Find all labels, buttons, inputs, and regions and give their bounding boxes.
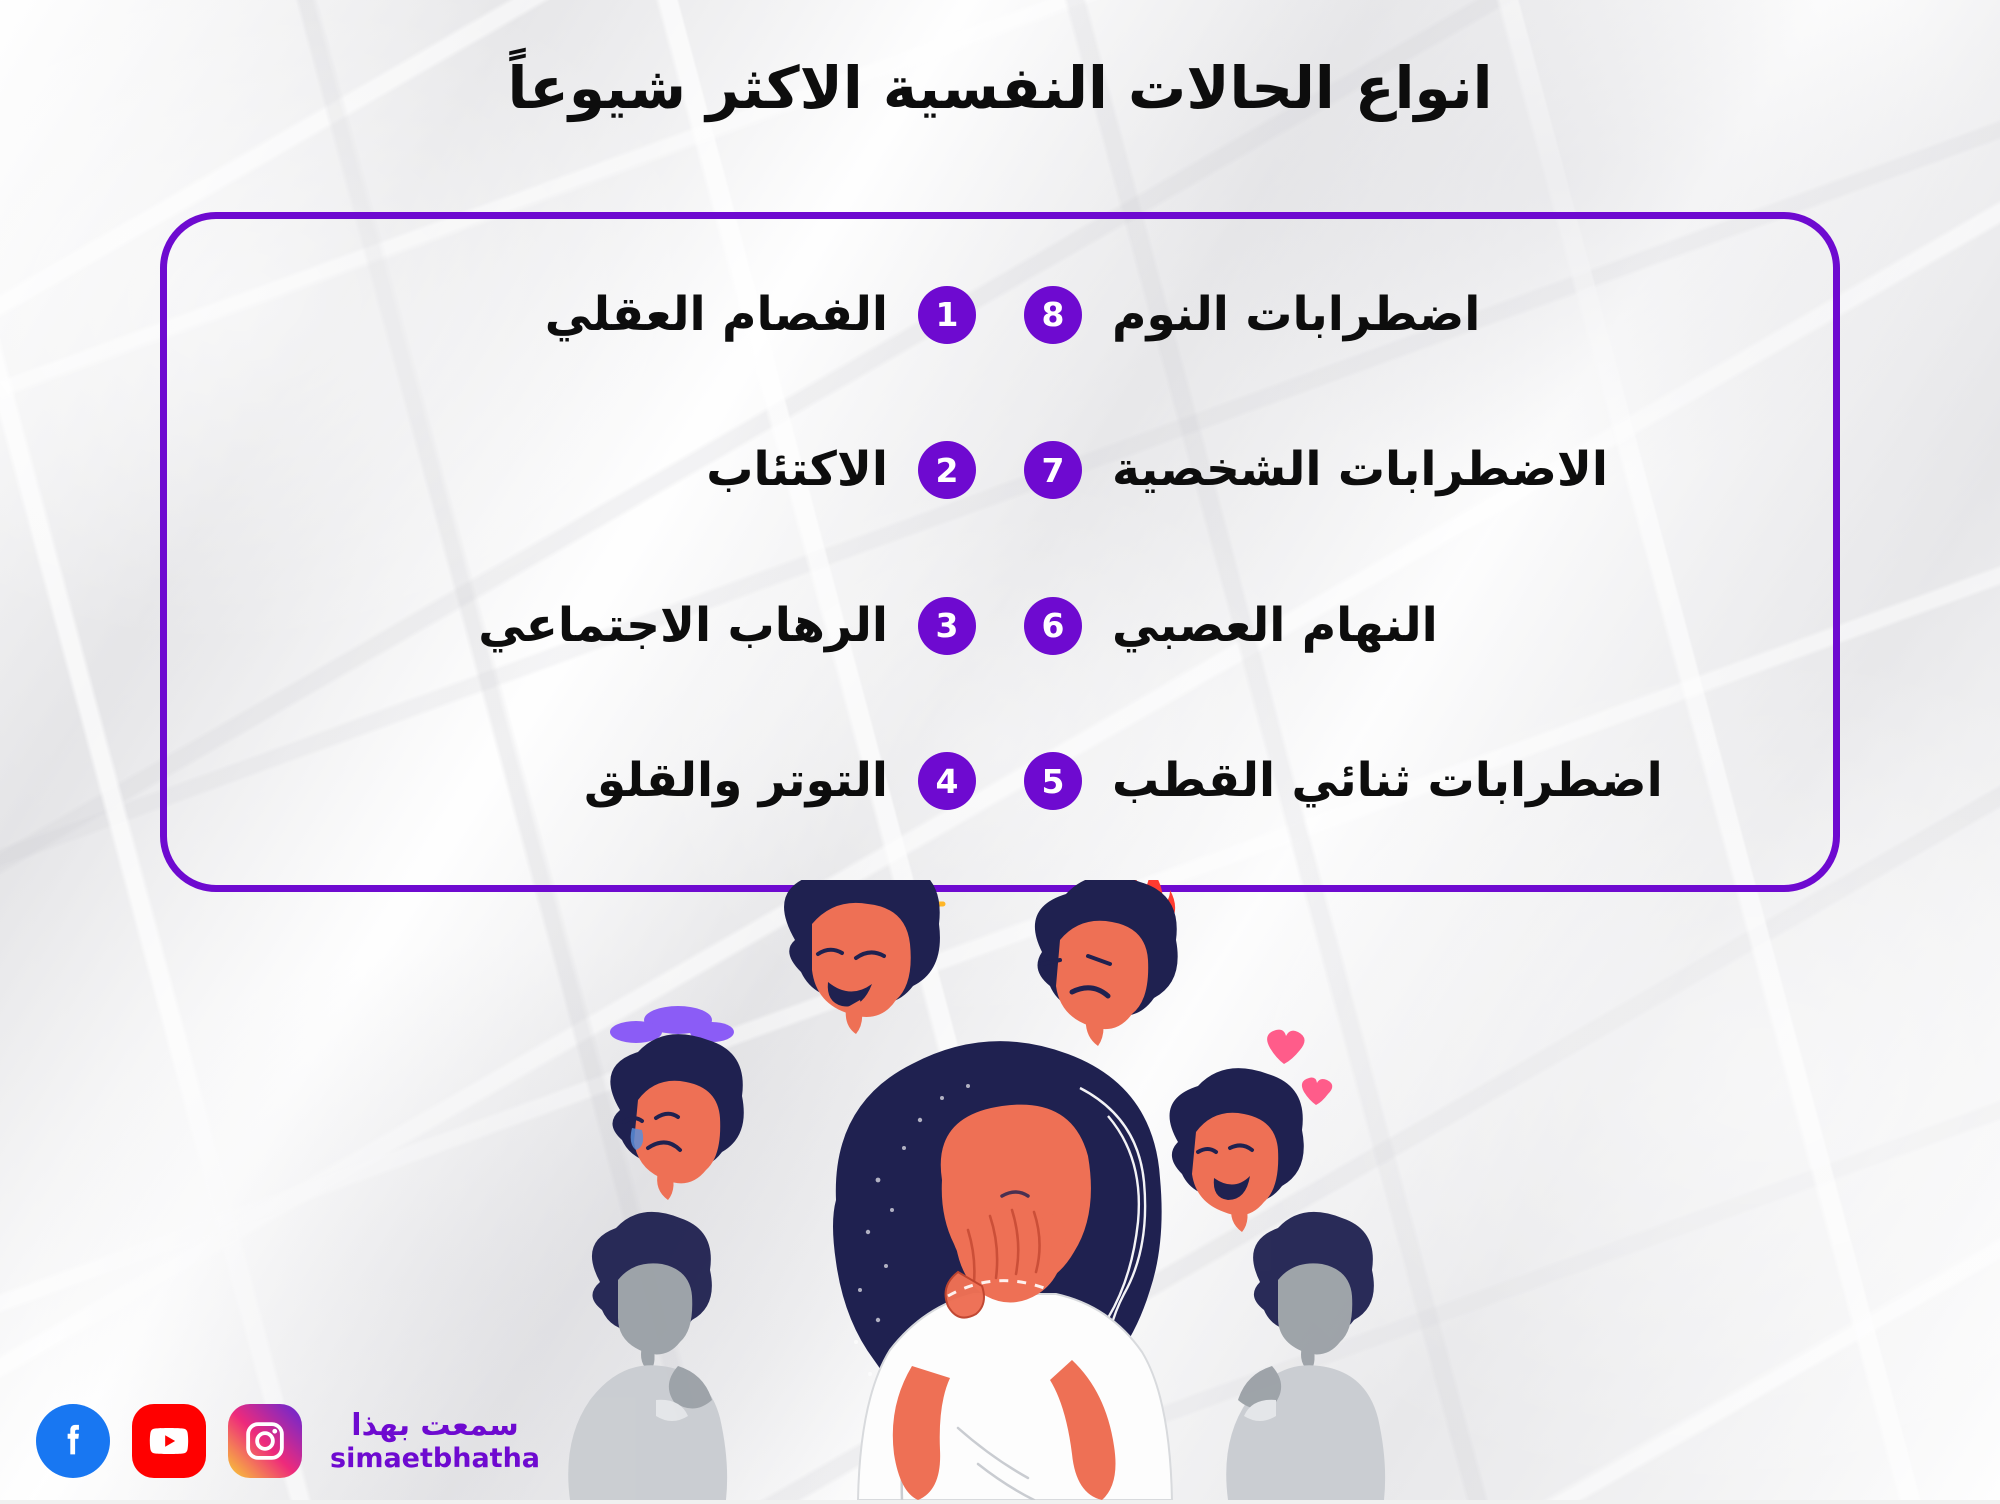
- emotion-head-angry: [1035, 880, 1178, 1046]
- illustration-woman-covering-face: [560, 880, 1460, 1500]
- list-item[interactable]: 1 الفصام العقلي: [201, 286, 1000, 344]
- page-title: انواع الحالات النفسية الاكثر شيوعاً: [0, 52, 2000, 125]
- list-item-label: الاكتئاب: [706, 442, 888, 498]
- list-item[interactable]: 4 التوتر والقلق: [201, 752, 1000, 810]
- list-item[interactable]: الاضطرابات الشخصية 7: [1000, 441, 1799, 499]
- main-figure-woman: [833, 1041, 1172, 1500]
- background-person-right: [1226, 1212, 1385, 1500]
- emotion-head-crying: [610, 1006, 744, 1200]
- footer-branding: سمعت بهذا simaetbhatha: [36, 1404, 540, 1478]
- brand-handle: simaetbhatha: [330, 1444, 540, 1474]
- list-item-number-badge: 4: [918, 752, 976, 810]
- list-item-label: اضطرابات ثنائي القطب: [1112, 753, 1663, 809]
- list-item-number-badge: 2: [918, 441, 976, 499]
- list-item[interactable]: اضطرابات ثنائي القطب 5: [1000, 752, 1799, 810]
- conditions-list-card: اضطرابات النوم 8 1 الفصام العقلي الاضطرا…: [160, 212, 1840, 892]
- youtube-icon[interactable]: [132, 1404, 206, 1478]
- list-item-label: اضطرابات النوم: [1112, 287, 1480, 343]
- list-item-label: النهام العصبي: [1112, 598, 1438, 654]
- list-item-number-badge: 6: [1024, 597, 1082, 655]
- list-item[interactable]: اضطرابات النوم 8: [1000, 286, 1799, 344]
- conditions-grid: اضطرابات النوم 8 1 الفصام العقلي الاضطرا…: [167, 219, 1833, 885]
- instagram-icon[interactable]: [228, 1404, 302, 1478]
- list-item-number-badge: 5: [1024, 752, 1082, 810]
- list-item-number-badge: 8: [1024, 286, 1082, 344]
- list-item-label: الرهاب الاجتماعي: [478, 598, 888, 654]
- list-item-label: الاضطرابات الشخصية: [1112, 442, 1608, 498]
- list-item[interactable]: 2 الاكتئاب: [201, 441, 1000, 499]
- emotion-head-loving: [1170, 1030, 1333, 1232]
- list-item[interactable]: النهام العصبي 6: [1000, 597, 1799, 655]
- emotion-head-laughing: [784, 880, 943, 1034]
- list-item-number-badge: 1: [918, 286, 976, 344]
- list-item[interactable]: 3 الرهاب الاجتماعي: [201, 597, 1000, 655]
- facebook-icon[interactable]: [36, 1404, 110, 1478]
- list-item-label: الفصام العقلي: [545, 287, 888, 343]
- brand-text-block: سمعت بهذا simaetbhatha: [330, 1409, 540, 1474]
- list-item-label: التوتر والقلق: [584, 753, 888, 809]
- background-person-left: [568, 1212, 727, 1500]
- list-item-number-badge: 3: [918, 597, 976, 655]
- brand-name-arabic: سمعت بهذا: [351, 1409, 518, 1442]
- list-item-number-badge: 7: [1024, 441, 1082, 499]
